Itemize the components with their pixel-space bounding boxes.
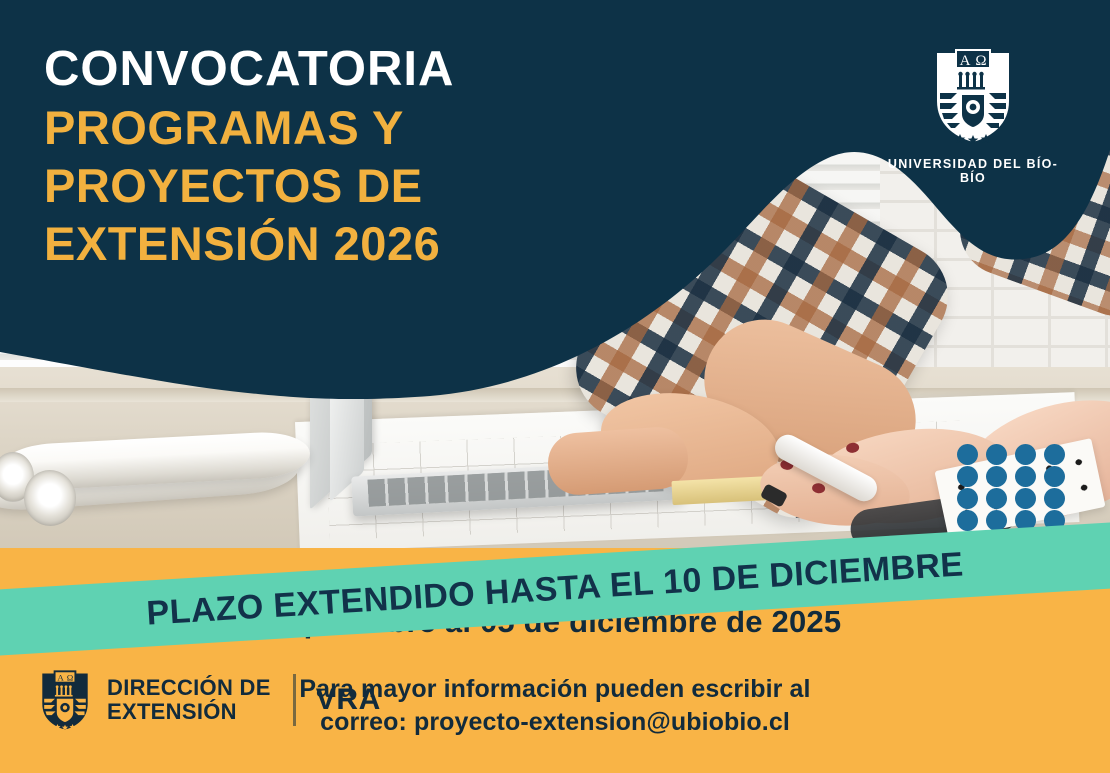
svg-text:Ω: Ω — [67, 672, 74, 682]
fingernail-icon — [812, 483, 826, 494]
grid-dot — [1015, 444, 1036, 465]
crest-omega: Ω — [975, 53, 986, 69]
department-name-line-2: EXTENSIÓN — [107, 700, 271, 724]
logo-divider — [293, 674, 296, 726]
department-name: DIRECCIÓN DE EXTENSIÓN — [107, 676, 271, 724]
grid-dot — [1044, 466, 1065, 487]
title-line-convocatoria: CONVOCATORIA — [44, 45, 604, 93]
grid-dot — [957, 444, 978, 465]
department-name-line-1: DIRECCIÓN DE — [107, 676, 271, 700]
page-title: CONVOCATORIA PROGRAMAS Y PROYECTOS DE EX… — [44, 45, 604, 279]
grid-dot — [1015, 466, 1036, 487]
fingers-typing — [546, 425, 690, 497]
grid-dot — [957, 488, 978, 509]
ubb-crest-icon: Α Ω — [927, 45, 1019, 145]
grid-dot — [986, 510, 1007, 531]
title-line-proyectos: PROYECTOS DE — [44, 163, 604, 209]
grid-dot — [1044, 488, 1065, 509]
crest-alpha: Α — [960, 53, 971, 69]
dot-grid-decoration — [953, 443, 1069, 531]
title-line-extension: EXTENSIÓN 2026 — [44, 221, 604, 267]
grid-dot — [986, 444, 1007, 465]
grid-dot — [957, 510, 978, 531]
grid-dot — [957, 466, 978, 487]
university-logo: Α Ω — [878, 45, 1068, 185]
ubb-crest-dark-icon: Α Ω — [36, 668, 94, 732]
svg-text:Α: Α — [57, 672, 64, 682]
vra-label: VRA — [316, 683, 381, 717]
university-name: UNIVERSIDAD DEL BÍO-BÍO — [878, 157, 1068, 185]
department-logo: Α Ω — [36, 668, 381, 732]
grid-dot — [1044, 444, 1065, 465]
title-line-programas: PROGRAMAS Y — [44, 105, 604, 151]
grid-dot — [1015, 488, 1036, 509]
fingernail-icon — [846, 442, 860, 454]
poster-canvas: CONVOCATORIA PROGRAMAS Y PROYECTOS DE EX… — [0, 0, 1110, 773]
grid-dot — [986, 488, 1007, 509]
grid-dot — [986, 466, 1007, 487]
